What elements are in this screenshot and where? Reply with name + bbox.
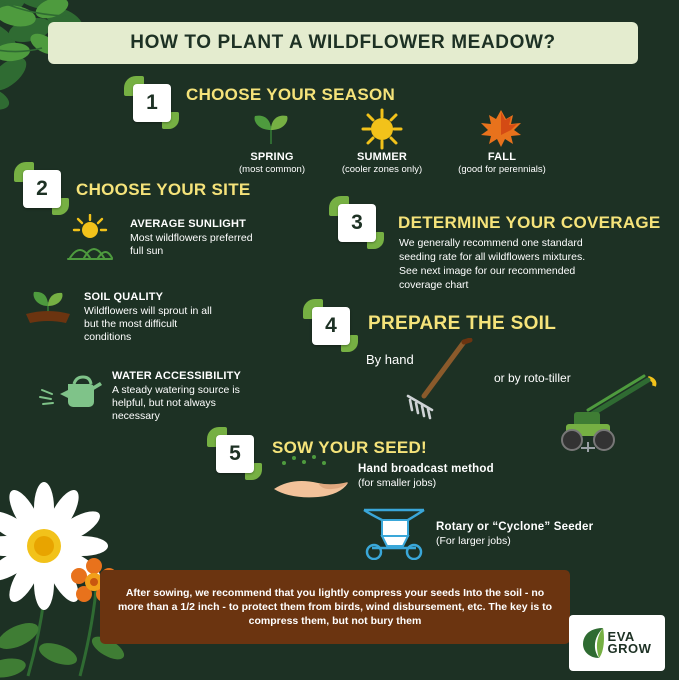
spreader-icon [356,508,436,560]
footer-note-box: After sowing, we recommend that you ligh… [100,570,570,644]
sunlight-icon [62,214,118,262]
sprout-icon [247,110,295,146]
step-2-badge: 2 [23,170,61,208]
season-fall-note: (good for perennials) [442,163,562,176]
page-title: HOW TO PLANT A WILDFLOWER MEADOW? [130,32,555,54]
site-sunlight-body: Most wildflowers preferred full sun [130,232,330,258]
site-soil-head: SOIL QUALITY [84,291,163,304]
leaf-logo-icon [583,626,605,660]
rake-icon [398,338,476,420]
step-5-number: 5 [229,442,241,466]
site-water-body: A steady watering source is helpful, but… [112,384,332,423]
sow-hand-head: Hand broadcast method [358,463,494,476]
step-4-title: PREPARE THE SOIL [368,313,556,335]
maple-leaf-icon [478,108,524,148]
watering-can-icon [38,372,104,412]
step-3-body: We generally recommend one standard seed… [399,236,669,292]
soil-icon [20,282,76,326]
step-1-number: 1 [146,91,158,115]
step-1-badge: 1 [133,84,171,122]
step-2-number: 2 [36,177,48,201]
roto-tiller-icon [548,368,660,458]
sow-spreader-head: Rotary or “Cyclone” Seeder [436,521,593,534]
hand-broadcast-icon [268,455,354,501]
brand-logo: EVA GROW [569,615,665,671]
season-spring-note: (most common) [222,163,322,176]
step-1-title: CHOOSE YOUR SEASON [186,85,395,105]
step-3-number: 3 [351,211,363,235]
step-3-title: DETERMINE YOUR COVERAGE [398,213,661,233]
step-2-title: CHOOSE YOUR SITE [76,180,251,200]
sow-spreader-body: (For larger jobs) [436,535,511,548]
sun-icon [358,108,406,150]
site-sunlight-head: AVERAGE SUNLIGHT [130,218,246,231]
decor-foliage-top-left [0,0,132,136]
step-3-badge: 3 [338,204,376,242]
logo-line-2: GROW [608,643,652,655]
footer-note-text: After sowing, we recommend that you ligh… [100,586,570,628]
decor-flowers-bottom-left [0,440,148,680]
step-4-number: 4 [325,314,337,338]
sow-hand-body: (for smaller jobs) [358,477,436,490]
season-summer-note: (cooler zones only) [327,163,437,176]
site-soil-body: Wildflowers will sprout in all but the m… [84,305,304,344]
step-4-badge: 4 [312,307,350,345]
site-water-head: WATER ACCESSIBILITY [112,370,241,383]
step-5-badge: 5 [216,435,254,473]
page-title-banner: HOW TO PLANT A WILDFLOWER MEADOW? [48,22,638,64]
